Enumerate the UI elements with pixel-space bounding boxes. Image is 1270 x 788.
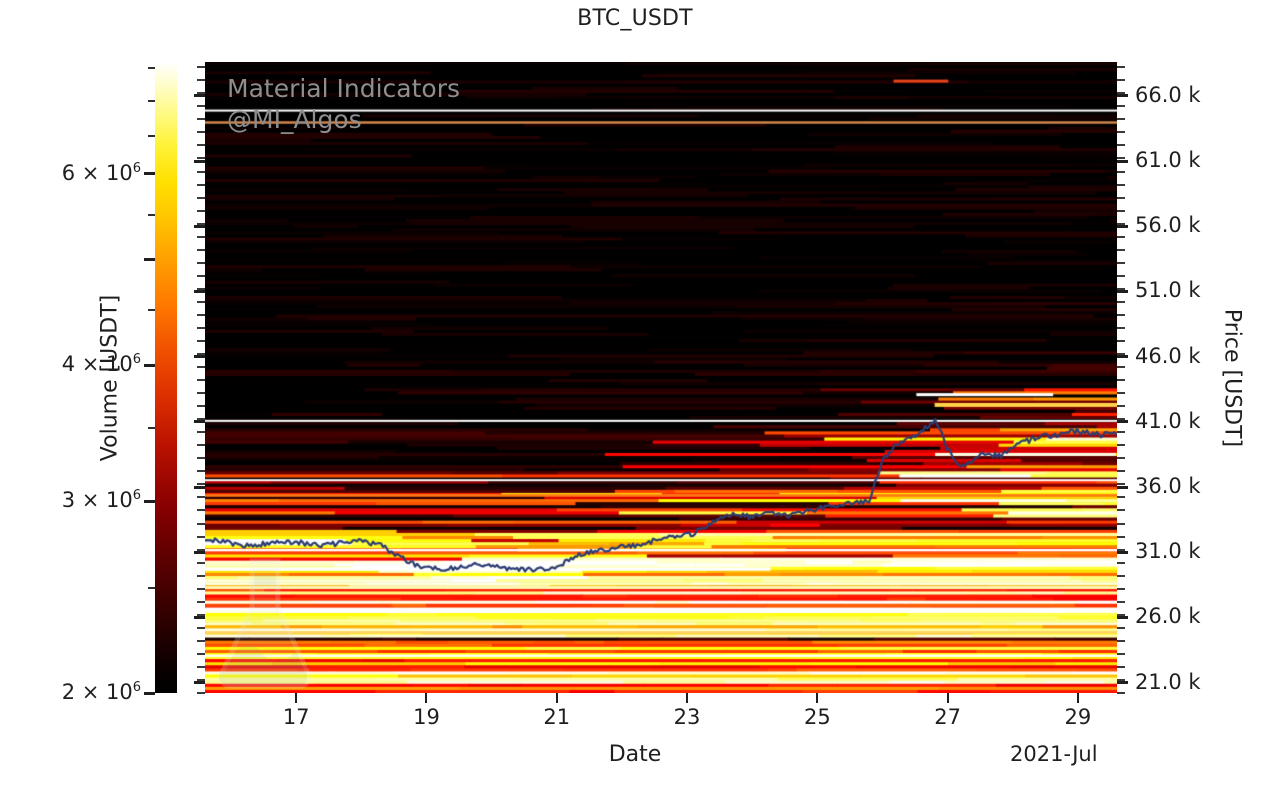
axis-tick-minor	[1117, 288, 1125, 290]
axis-tick-minor	[197, 223, 205, 225]
axis-tick-minor	[1117, 327, 1125, 329]
axis-tick-minor	[1117, 366, 1125, 368]
axis-tick-minor	[197, 588, 205, 590]
price-tick-label: 51.0 k	[1135, 278, 1201, 302]
axis-tick-minor	[1117, 353, 1125, 355]
colorbar-tick	[144, 500, 155, 503]
colorbar-tick	[144, 692, 155, 695]
axis-tick-minor	[1117, 470, 1125, 472]
axis-tick-minor	[1117, 197, 1125, 199]
axis-tick-minor	[197, 118, 205, 120]
axis-tick-minor	[1117, 614, 1125, 616]
axis-tick-minor	[197, 79, 205, 81]
axis-tick-minor	[197, 197, 205, 199]
axis-tick-minor	[197, 536, 205, 538]
axis-tick-minor	[197, 288, 205, 290]
axis-tick-minor	[197, 171, 205, 173]
axis-tick-minor	[197, 549, 205, 551]
x-tick-label: 25	[804, 705, 831, 729]
axis-tick-major	[194, 355, 205, 358]
axis-tick-minor	[197, 692, 205, 694]
colorbar-tick-label: 4 × 106	[62, 352, 141, 376]
axis-tick-major	[1117, 290, 1128, 293]
axis-tick-minor	[1117, 444, 1125, 446]
axis-tick-major	[1117, 160, 1128, 163]
x-axis-tick	[686, 693, 688, 703]
price-tick-label: 31.0 k	[1135, 539, 1201, 563]
axis-tick-minor	[1117, 666, 1125, 668]
axis-tick-minor	[197, 483, 205, 485]
axis-tick-minor	[1117, 131, 1125, 133]
axis-tick-minor	[197, 105, 205, 107]
axis-tick-major	[194, 290, 205, 293]
axis-tick-minor	[1117, 79, 1125, 81]
right-axis-ticks	[1117, 62, 1137, 693]
axis-tick-minor	[1117, 536, 1125, 538]
axis-tick-minor	[1117, 144, 1125, 146]
axis-tick-minor	[197, 457, 205, 459]
axis-tick-minor	[197, 366, 205, 368]
axis-tick-minor	[1117, 509, 1125, 511]
x-tick-label: 23	[674, 705, 701, 729]
colorbar-tick-label: 3 × 106	[62, 488, 141, 512]
axis-tick-minor	[197, 262, 205, 264]
x-tick-label: 29	[1065, 705, 1092, 729]
axis-tick-minor	[197, 249, 205, 251]
axis-tick-major	[1117, 551, 1128, 554]
x-axis-tick	[425, 693, 427, 703]
axis-tick-minor	[1117, 653, 1125, 655]
price-tick-label: 21.0 k	[1135, 669, 1201, 693]
axis-tick-minor	[1117, 549, 1125, 551]
colorbar-tick-minor	[148, 67, 155, 69]
axis-tick-minor	[1117, 171, 1125, 173]
colorbar-tick	[144, 172, 155, 175]
axis-tick-minor	[1117, 392, 1125, 394]
colorbar-tick-minor	[148, 309, 155, 311]
axis-tick-minor	[197, 640, 205, 642]
x-axis-tick	[816, 693, 818, 703]
axis-tick-minor	[197, 653, 205, 655]
axis-tick-minor	[1117, 575, 1125, 577]
x-axis-ticks: 17192123252729	[205, 693, 1117, 705]
axis-tick-minor	[1117, 640, 1125, 642]
colorbar-tick-minor	[148, 100, 155, 102]
volume-colorbar: Volume [USDT] 6 × 1064 × 1063 × 1062 × 1…	[155, 62, 177, 693]
axis-tick-minor	[1117, 105, 1125, 107]
x-axis-tick	[947, 693, 949, 703]
axis-tick-major	[194, 420, 205, 423]
axis-tick-minor	[1117, 340, 1125, 342]
axis-tick-minor	[1117, 431, 1125, 433]
axis-tick-major	[1117, 355, 1128, 358]
axis-tick-minor	[1117, 262, 1125, 264]
axis-tick-minor	[197, 379, 205, 381]
axis-tick-major	[194, 551, 205, 554]
axis-tick-minor	[1117, 679, 1125, 681]
axis-tick-minor	[197, 340, 205, 342]
axis-tick-minor	[1117, 301, 1125, 303]
axis-tick-major	[194, 94, 205, 97]
axis-tick-minor	[197, 431, 205, 433]
colorbar-tick-label: 6 × 106	[62, 161, 141, 185]
x-tick-label: 27	[934, 705, 961, 729]
axis-tick-minor	[1117, 249, 1125, 251]
axis-tick-minor	[197, 236, 205, 238]
price-tick-label: 61.0 k	[1135, 148, 1201, 172]
colorbar-axis-label: Volume [USDT]	[98, 294, 123, 460]
x-tick-label: 19	[413, 705, 440, 729]
colorbar-tick-label: 2 × 106	[62, 680, 141, 704]
axis-tick-minor	[197, 275, 205, 277]
axis-tick-minor	[197, 627, 205, 629]
axis-tick-minor	[197, 314, 205, 316]
colorbar-tick-minor	[148, 587, 155, 589]
axis-tick-minor	[197, 353, 205, 355]
colorbar-tick-minor	[148, 427, 155, 429]
price-axis-label: Price [USDT]	[1220, 309, 1245, 447]
axis-tick-minor	[197, 418, 205, 420]
x-axis-tick	[1077, 693, 1079, 703]
axis-tick-major	[194, 160, 205, 163]
axis-tick-minor	[1117, 627, 1125, 629]
axis-tick-minor	[197, 92, 205, 94]
axis-tick-major	[1117, 681, 1128, 684]
axis-tick-minor	[1117, 405, 1125, 407]
heatmap-plot-area[interactable]: Material Indicators @MI_Algos	[205, 62, 1117, 693]
axis-tick-minor	[197, 301, 205, 303]
axis-tick-major	[194, 225, 205, 228]
axis-tick-minor	[1117, 379, 1125, 381]
axis-tick-minor	[197, 131, 205, 133]
axis-tick-minor	[1117, 157, 1125, 159]
left-axis-ticks	[185, 62, 205, 693]
axis-tick-minor	[1117, 523, 1125, 525]
axis-tick-minor	[1117, 562, 1125, 564]
axis-tick-major	[1117, 225, 1128, 228]
axis-tick-minor	[1117, 588, 1125, 590]
x-tick-label: 21	[543, 705, 570, 729]
price-tick-label: 56.0 k	[1135, 213, 1201, 237]
axis-tick-minor	[1117, 457, 1125, 459]
price-line-series	[205, 62, 1117, 693]
axis-tick-minor	[197, 184, 205, 186]
axis-tick-minor	[1117, 692, 1125, 694]
axis-tick-minor	[1117, 210, 1125, 212]
axis-tick-minor	[197, 523, 205, 525]
axis-tick-minor	[197, 444, 205, 446]
x-axis-offset-label: 2021-Jul	[1010, 742, 1098, 766]
axis-tick-minor	[197, 679, 205, 681]
axis-tick-minor	[197, 210, 205, 212]
x-axis-tick	[295, 693, 297, 703]
colorbar-gradient	[155, 62, 177, 693]
axis-tick-minor	[1117, 314, 1125, 316]
axis-tick-major	[194, 486, 205, 489]
axis-tick-minor	[1117, 483, 1125, 485]
axis-tick-minor	[197, 144, 205, 146]
axis-tick-minor	[1117, 92, 1125, 94]
axis-tick-major	[194, 681, 205, 684]
axis-tick-minor	[197, 405, 205, 407]
axis-tick-minor	[197, 614, 205, 616]
axis-tick-major	[1117, 616, 1128, 619]
axis-tick-minor	[197, 666, 205, 668]
axis-tick-minor	[197, 470, 205, 472]
axis-tick-minor	[1117, 118, 1125, 120]
axis-tick-minor	[1117, 601, 1125, 603]
price-tick-label: 41.0 k	[1135, 409, 1201, 433]
axis-tick-major	[1117, 94, 1128, 97]
axis-tick-minor	[1117, 275, 1125, 277]
axis-tick-minor	[197, 601, 205, 603]
page-title: BTC_USDT	[0, 6, 1270, 31]
colorbar-tick-minor	[148, 135, 155, 137]
axis-tick-minor	[197, 327, 205, 329]
axis-tick-major	[194, 616, 205, 619]
axis-tick-minor	[197, 496, 205, 498]
axis-tick-minor	[1117, 66, 1125, 68]
axis-tick-major	[1117, 486, 1128, 489]
axis-tick-minor	[1117, 496, 1125, 498]
axis-tick-minor	[197, 509, 205, 511]
axis-tick-minor	[1117, 418, 1125, 420]
colorbar-tick	[144, 258, 155, 261]
axis-tick-minor	[1117, 223, 1125, 225]
axis-tick-major	[1117, 420, 1128, 423]
axis-tick-minor	[197, 562, 205, 564]
colorbar-tick-minor	[148, 214, 155, 216]
x-tick-label: 17	[283, 705, 310, 729]
axis-tick-minor	[1117, 236, 1125, 238]
axis-tick-minor	[197, 157, 205, 159]
price-tick-label: 36.0 k	[1135, 474, 1201, 498]
price-tick-label: 26.0 k	[1135, 604, 1201, 628]
axis-tick-minor	[197, 392, 205, 394]
figure-canvas: BTC_USDT Volume [USDT] 6 × 1064 × 1063 ×…	[0, 0, 1270, 788]
x-axis-tick	[556, 693, 558, 703]
price-tick-label: 46.0 k	[1135, 343, 1201, 367]
axis-tick-minor	[197, 66, 205, 68]
price-tick-label: 66.0 k	[1135, 83, 1201, 107]
colorbar-tick	[144, 364, 155, 367]
axis-tick-minor	[1117, 184, 1125, 186]
axis-tick-minor	[197, 575, 205, 577]
